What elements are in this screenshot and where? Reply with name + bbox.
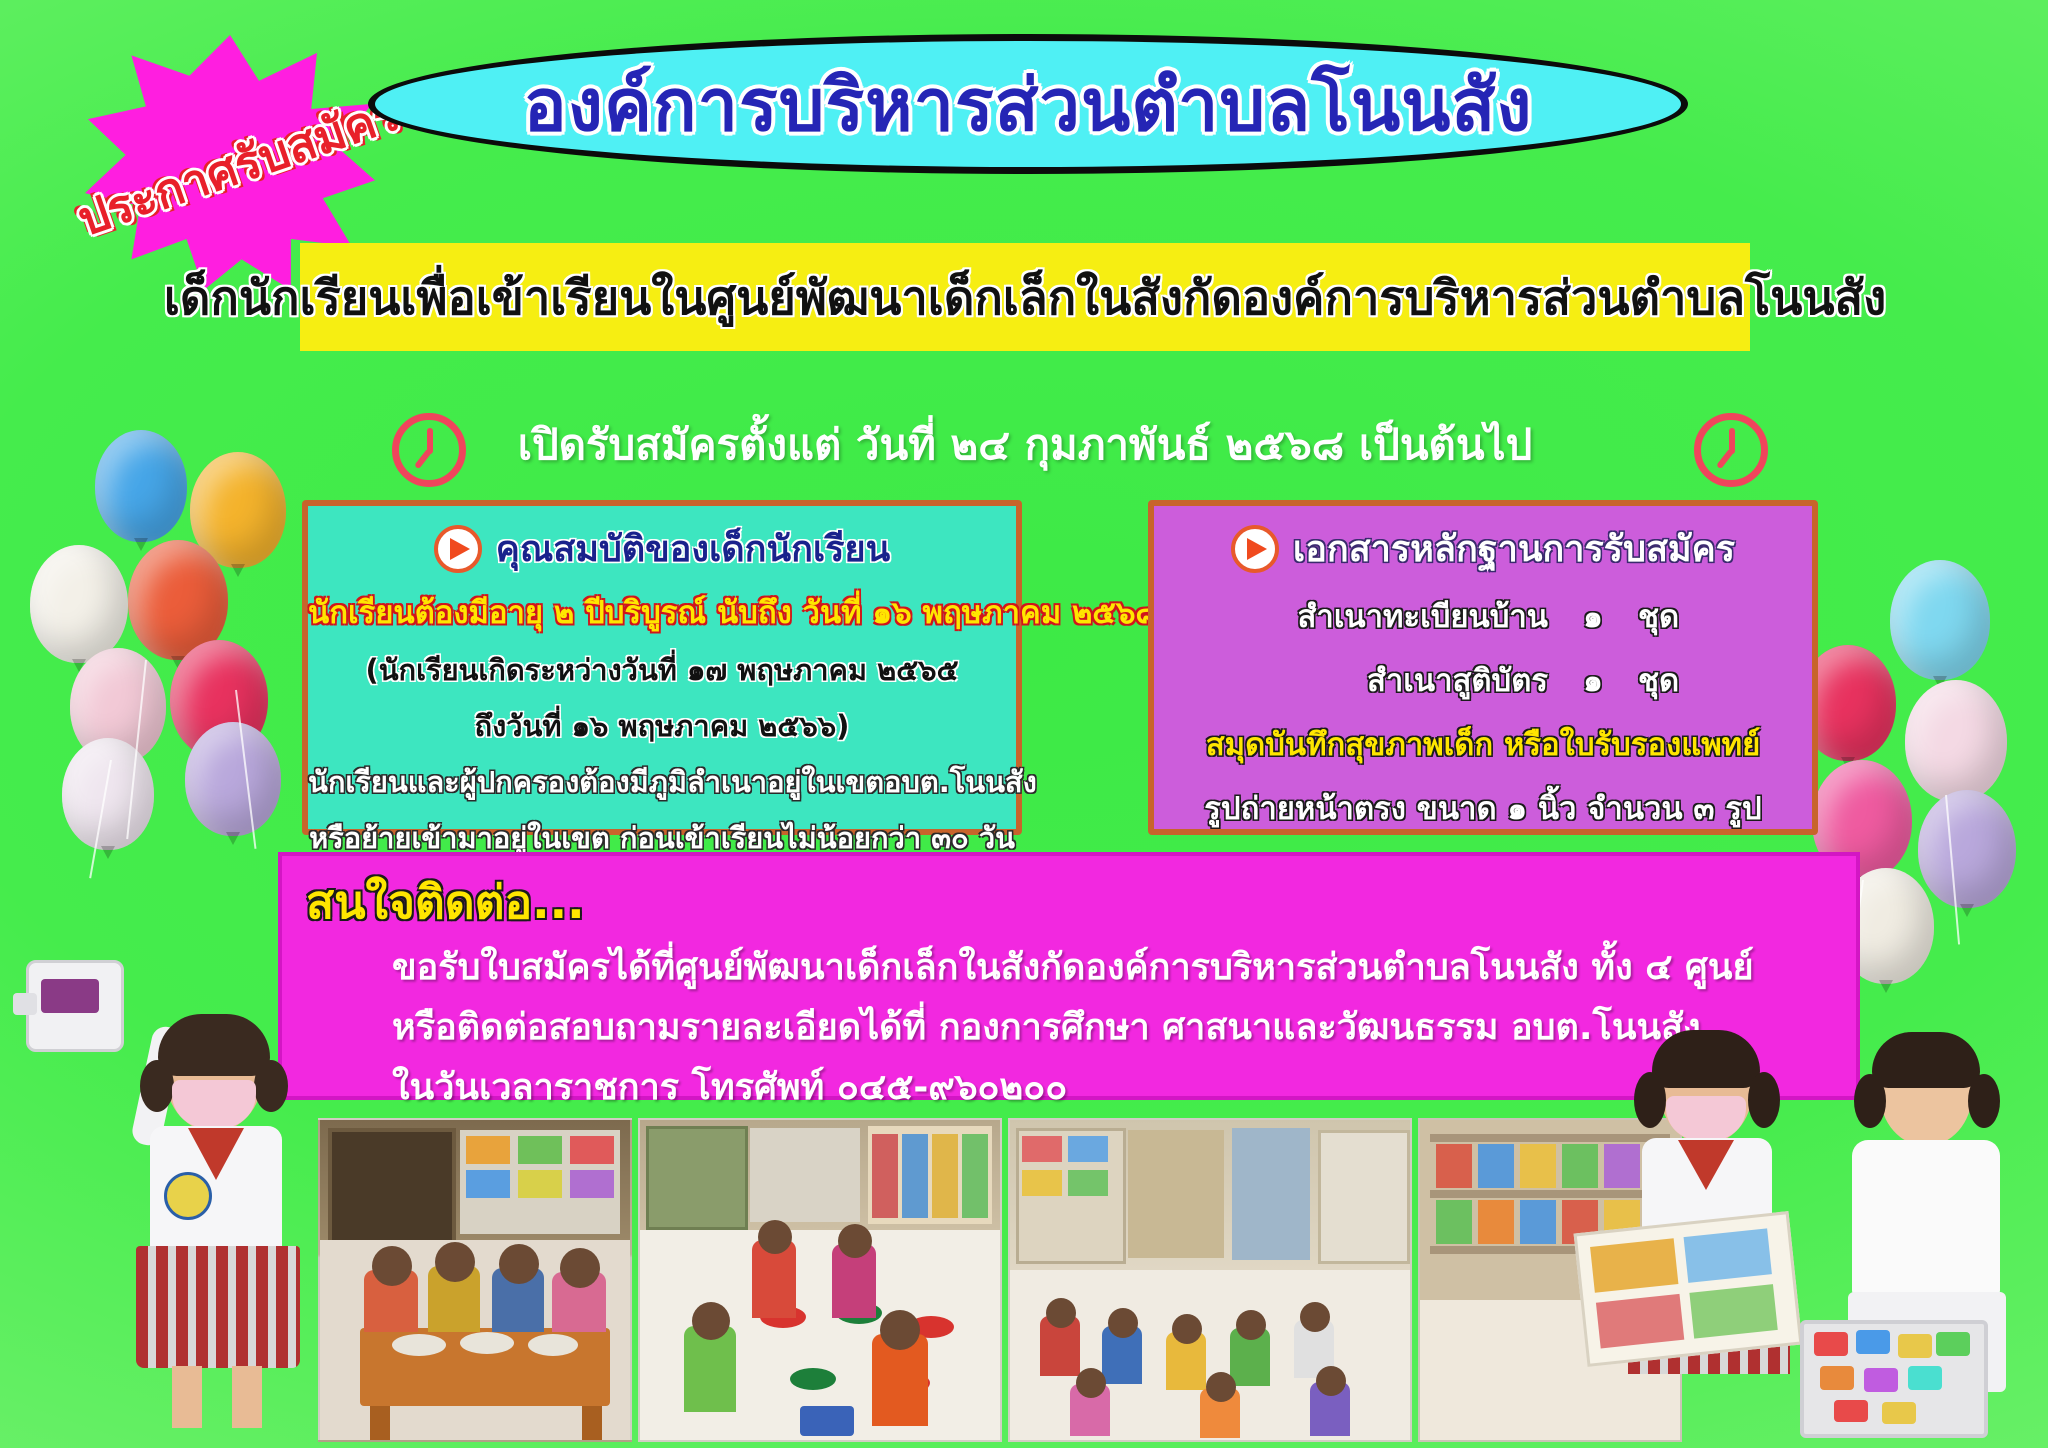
- photo-floor-activity: [638, 1118, 1002, 1442]
- document-qty: ๑: [1548, 655, 1638, 705]
- qualification-line: (นักเรียนเกิดระหว่างวันที่ ๑๗ พฤษภาคม ๒๕…: [308, 647, 1016, 693]
- girl-with-thermometer: [100, 940, 360, 1440]
- arrow-circle-icon: [1231, 525, 1279, 573]
- balloon: [1918, 790, 2016, 908]
- documents-heading: เอกสารหลักฐานการรับสมัคร: [1293, 520, 1735, 577]
- contact-title: สนใจติดต่อ...: [306, 866, 585, 939]
- documents-box: เอกสารหลักฐานการรับสมัคร สำเนาทะเบียนบ้า…: [1148, 500, 1818, 835]
- qualifications-heading: คุณสมบัติของเด็กนักเรียน: [496, 520, 890, 577]
- qualification-line: นักเรียนต้องมีอายุ ๒ ปีบริบูรณ์ นับถึง ว…: [308, 587, 1016, 637]
- document-row: รูปถ่ายหน้าตรง ขนาด ๑ นิ้ว จำนวน ๓ รูป: [1154, 783, 1812, 833]
- document-name: สำเนาทะเบียนบ้าน: [1218, 591, 1548, 641]
- document-row: สมุดบันทึกสุขภาพเด็ก หรือใบรับรองแพทย์: [1154, 719, 1812, 769]
- document-unit: ชุด: [1638, 591, 1748, 641]
- photo-circle-time: [1008, 1118, 1412, 1442]
- title-text: องค์การบริหารส่วนตำบลโนนสัง: [368, 34, 1688, 174]
- contact-line: หรือติดต่อสอบถามรายละเอียดได้ที่ กองการศ…: [392, 998, 1701, 1055]
- open-date-text: เปิดรับสมัครตั้งแต่ วันที่ ๒๔ กุมภาพันธ์…: [380, 412, 1670, 478]
- document-row: สำเนาสูติบัตร ๑ ชุด: [1154, 655, 1812, 705]
- balloon: [30, 545, 128, 663]
- girl-with-toys: [1800, 1020, 2048, 1448]
- clock-icon: [1694, 413, 1768, 487]
- toy-basket: [1800, 1320, 1988, 1438]
- arrow-circle-icon: [434, 525, 482, 573]
- contact-line: ในวันเวลาราชการ โทรศัพท์ ๐๔๕-๙๖๐๒๐๐: [392, 1058, 1067, 1115]
- poster-title: องค์การบริหารส่วนตำบลโนนสัง: [368, 34, 1688, 174]
- balloon: [62, 738, 154, 850]
- qualifications-header: คุณสมบัติของเด็กนักเรียน: [308, 520, 1016, 577]
- document-row: สำเนาทะเบียนบ้าน ๑ ชุด: [1154, 591, 1812, 641]
- subtitle-text: เด็กนักเรียนเพื่อเข้าเรียนในศูนย์พัฒนาเด…: [164, 260, 1886, 335]
- balloon: [185, 722, 281, 836]
- poster-canvas: ประกาศรับสมัคร องค์การบริหารส่วนตำบลโนนส…: [0, 0, 2048, 1448]
- document-name: สำเนาสูติบัตร: [1218, 655, 1548, 705]
- thermometer-device: [26, 960, 124, 1052]
- balloon: [1890, 560, 1990, 680]
- balloon: [95, 430, 187, 542]
- contact-line: ขอรับใบสมัครได้ที่ศูนย์พัฒนาเด็กเล็กในสั…: [392, 938, 1754, 995]
- document-qty: ๑: [1548, 591, 1638, 641]
- subtitle-banner: เด็กนักเรียนเพื่อเข้าเรียนในศูนย์พัฒนาเด…: [300, 243, 1750, 351]
- picture-book: [1574, 1211, 1803, 1367]
- document-unit: ชุด: [1638, 655, 1748, 705]
- photo-classroom-meal: [318, 1118, 632, 1442]
- qualification-line: นักเรียนและผู้ปกครองต้องมีภูมิลำเนาอยู่ใ…: [308, 759, 1016, 805]
- documents-header: เอกสารหลักฐานการรับสมัคร: [1154, 520, 1812, 577]
- balloon: [1905, 680, 2007, 802]
- qualifications-box: คุณสมบัติของเด็กนักเรียน นักเรียนต้องมีอ…: [302, 500, 1022, 835]
- qualification-line: ถึงวันที่ ๑๖ พฤษภาคม ๒๕๖๖): [308, 703, 1016, 749]
